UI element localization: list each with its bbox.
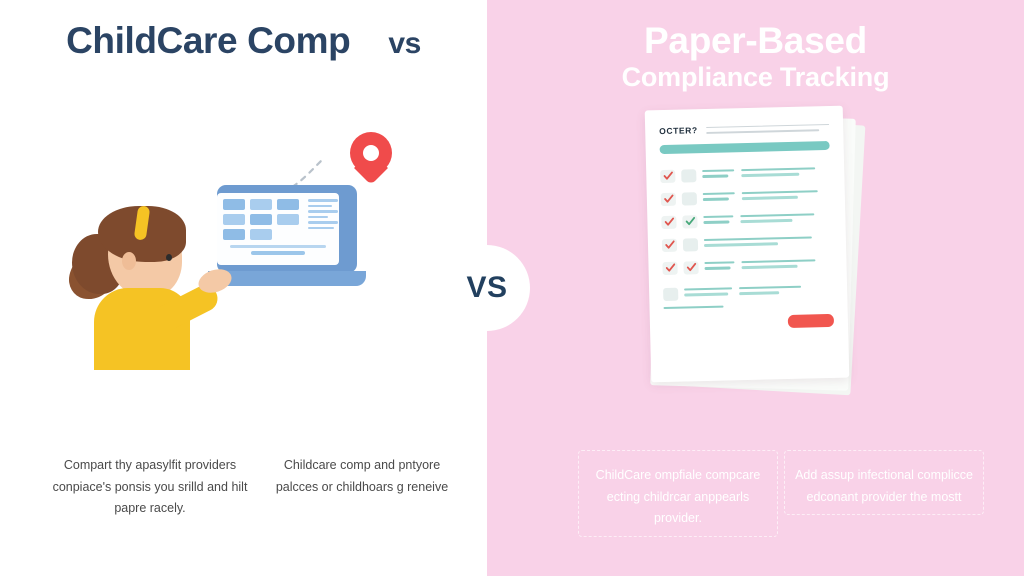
submit-button[interactable] — [788, 314, 834, 328]
checkbox-green-checked[interactable] — [682, 215, 697, 228]
left-panel-title: ChildCare Compvs — [0, 20, 487, 62]
document-front-page: OCTER? — [645, 106, 850, 383]
document-footer — [663, 284, 833, 301]
checkbox-red-checked[interactable] — [662, 262, 677, 275]
checkbox-empty[interactable] — [683, 238, 698, 251]
right-panel-title: Paper-Based Compliance Tracking — [487, 20, 1024, 95]
right-title-line2: Compliance Tracking — [487, 61, 1024, 95]
right-caption-1: ChildCare ompfiale compcare ecting child… — [578, 450, 778, 537]
left-illustration — [70, 110, 430, 370]
checklist-row — [662, 258, 832, 275]
checkbox-red-checked[interactable] — [662, 239, 677, 252]
comparison-infographic: ChildCare Compvs Paper-Based Compliance … — [0, 0, 1024, 576]
checkbox-red-checked[interactable] — [661, 193, 676, 206]
checklist-row — [661, 189, 831, 206]
checklist-row — [660, 166, 830, 183]
right-caption-2: Add assup infectional complicce edconant… — [784, 450, 984, 515]
left-title-text: ChildCare Comp — [66, 20, 350, 61]
vs-badge: VS — [444, 245, 530, 331]
left-caption-1: Compart thy apasylfit providers conpiace… — [50, 455, 250, 520]
left-caption-2: Childcare comp and pntyore palcces or ch… — [262, 455, 462, 498]
laptop-illustration — [208, 185, 366, 297]
map-pin-icon — [350, 132, 392, 188]
checklist-row — [662, 235, 832, 252]
checkbox-empty[interactable] — [681, 169, 696, 182]
checklist-row — [661, 212, 831, 229]
checklist-rows — [660, 166, 833, 275]
checkbox-empty[interactable] — [682, 192, 697, 205]
laptop-screen — [217, 193, 339, 265]
checkbox-empty[interactable] — [663, 288, 678, 301]
right-title-line1: Paper-Based — [487, 20, 1024, 61]
checkbox-red-checked[interactable] — [661, 216, 676, 229]
paper-document-illustration: OCTER? — [640, 108, 870, 398]
title-vs-text: vs — [388, 27, 421, 60]
checkbox-red-checked[interactable] — [683, 261, 698, 274]
document-header-label: OCTER? — [659, 125, 698, 136]
checkbox-red-checked[interactable] — [660, 170, 675, 183]
document-accent-bar — [660, 141, 830, 154]
person-illustration — [70, 192, 220, 370]
